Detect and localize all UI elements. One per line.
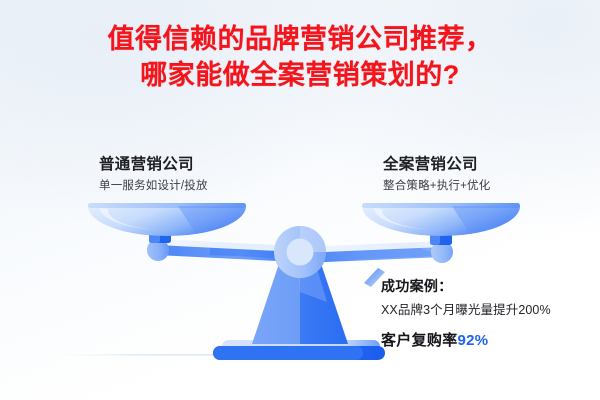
success-case-block: 成功案例： XX品牌3个月曝光量提升200% 客户复购率92% [381, 276, 596, 350]
repurchase-rate-label: 客户复购率 [381, 332, 458, 349]
scale-pivot [274, 226, 326, 278]
caption-right-title: 全案营销公司 [383, 152, 490, 174]
scale-pan-left [88, 203, 246, 236]
success-case-heading: 成功案例： [381, 276, 596, 296]
poster-canvas: 值得信赖的品牌营销公司推荐， 哪家能做全案营销策划的? [0, 0, 600, 400]
caption-ordinary-agency: 普通营销公司 单一服务如设计/投放 [99, 152, 208, 193]
success-case-detail: XX品牌3个月曝光量提升200% [381, 299, 596, 318]
caption-full-service-agency: 全案营销公司 整合策略+执行+优化 [383, 152, 490, 193]
scale-pan-right [362, 203, 520, 236]
repurchase-rate-kpi: 客户复购率92% [381, 329, 596, 350]
caption-left-title: 普通营销公司 [99, 152, 208, 174]
caption-left-subtitle: 单一服务如设计/投放 [99, 177, 208, 193]
repurchase-rate-value: 92% [458, 332, 489, 349]
caption-right-subtitle: 整合策略+执行+优化 [383, 177, 490, 193]
